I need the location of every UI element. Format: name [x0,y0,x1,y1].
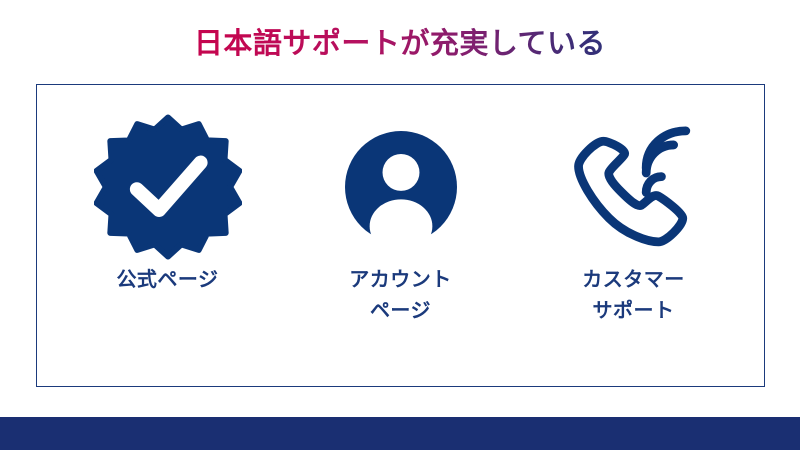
feature-label-official-page: 公式ページ [116,265,218,296]
feature-label-line-2: ページ [349,296,452,327]
icon-slot-customer-support [570,119,698,259]
feature-label-line-2: サポート [582,296,685,327]
feature-label-customer-support: カスタマー サポート [582,265,685,327]
phone-support-icon [570,126,698,253]
page-title: 日本語サポートが充実している [0,24,800,64]
feature-label-line-1: カスタマー [582,265,685,296]
bottom-accent-bar [0,417,800,450]
feature-item-customer-support[interactable]: カスタマー サポート [517,85,750,327]
feature-item-account-page[interactable]: アカウント ページ [284,85,517,327]
icon-slot-official-page [94,119,242,259]
verified-badge-icon [94,113,242,266]
feature-columns: 公式ページ [37,85,764,386]
icon-slot-account-page [345,119,457,259]
feature-label-account-page: アカウント ページ [349,265,452,327]
feature-label-line-1: アカウント [349,265,452,296]
account-person-icon [345,131,457,248]
feature-box: 公式ページ [36,84,765,387]
feature-item-official-page[interactable]: 公式ページ [51,85,284,296]
feature-label-line-1: 公式ページ [116,265,218,296]
